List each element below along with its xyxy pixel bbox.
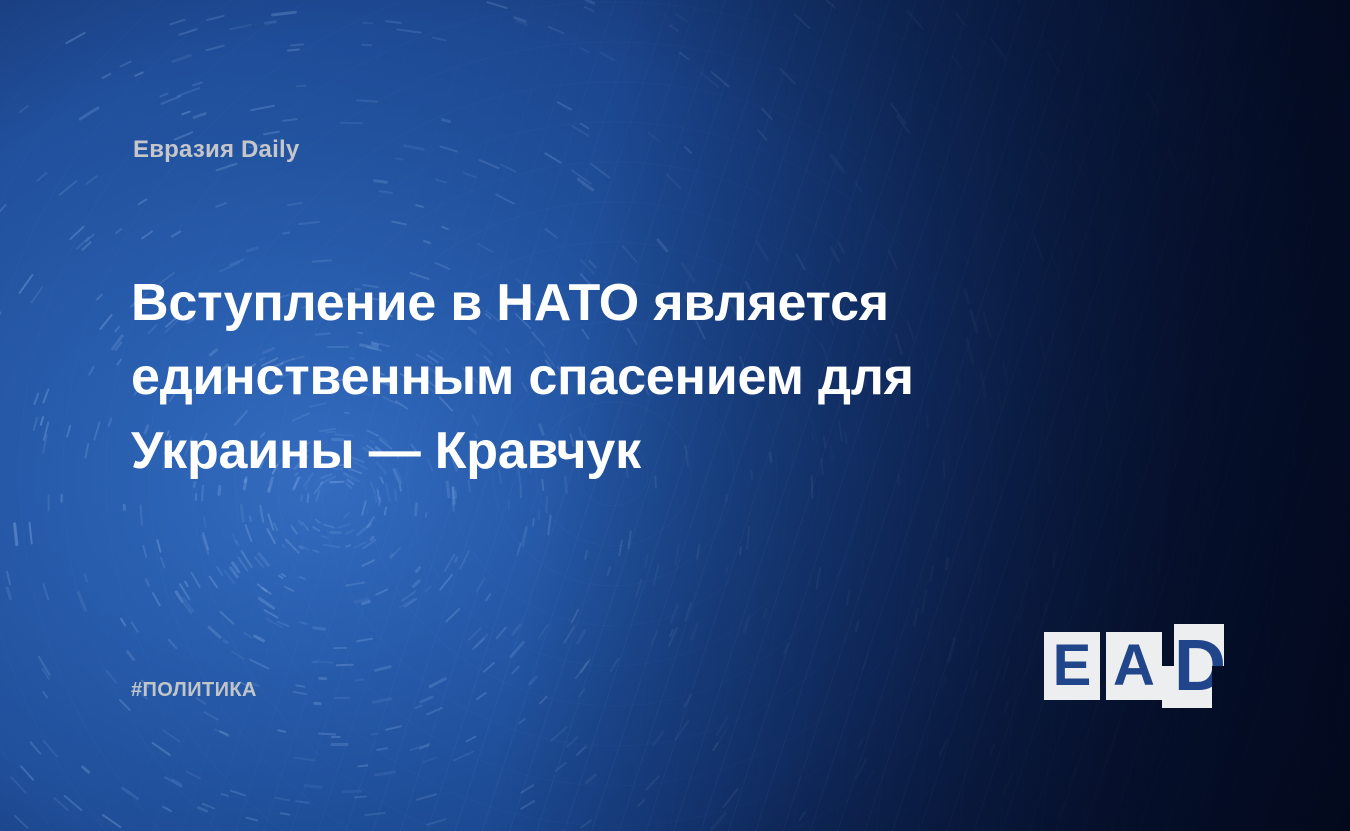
logo-tile-d-bottom: D [1162, 666, 1212, 708]
publisher-name: Евразия Daily [133, 136, 299, 164]
logo-tile-d-top: D [1174, 624, 1224, 666]
headline-line-1: Вступление в НАТО является [131, 266, 1011, 340]
news-share-card: Евразия Daily Вступление в НАТО является… [0, 0, 1350, 831]
headline-line-2: единственным спасением для [131, 340, 1011, 414]
logo-tile-e: E [1044, 632, 1100, 700]
category-tag[interactable]: #ПОЛИТИКА [131, 679, 257, 702]
logo-letter-e: E [1044, 632, 1100, 700]
logo-tile-a: A [1106, 632, 1162, 700]
logo-letter-d-bottom: D [1174, 666, 1212, 708]
headline: Вступление в НАТО является единственным … [131, 266, 1011, 488]
logo-letter-d-top: D [1174, 624, 1224, 666]
logo-letter-a: A [1106, 632, 1162, 700]
headline-line-3: Украины — Кравчук [131, 414, 1011, 488]
ead-logo: E A D D [1044, 624, 1224, 708]
